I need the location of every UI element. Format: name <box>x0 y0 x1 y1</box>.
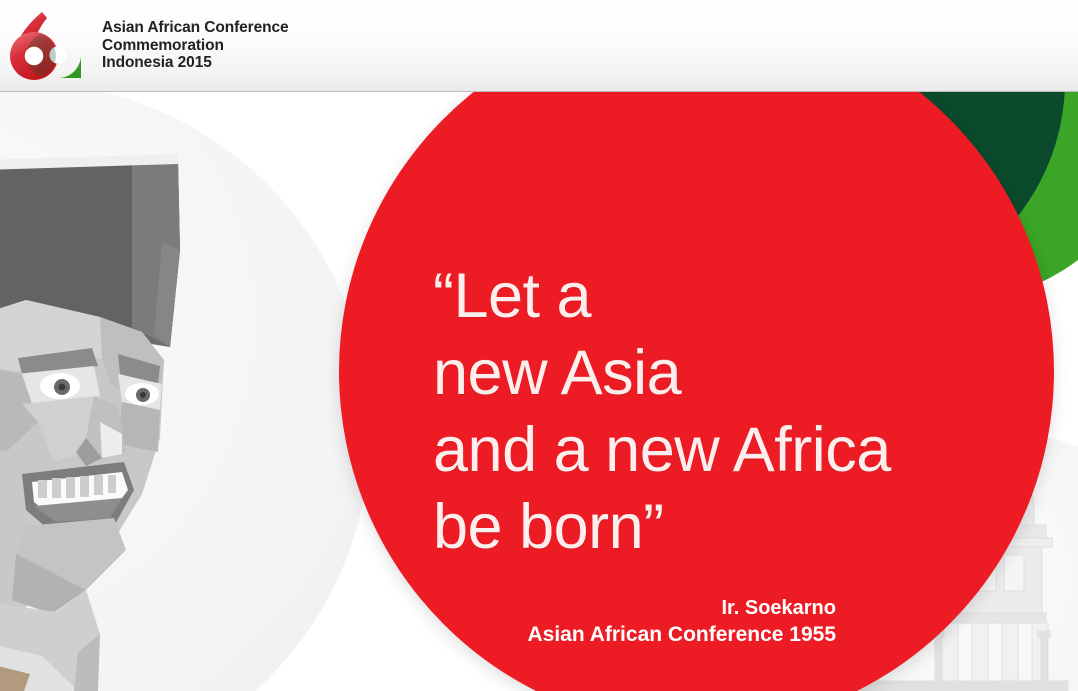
quote-attribution: Ir. Soekarno Asian African Conference 19… <box>433 595 836 649</box>
site-header: Asian African Conference Commemoration I… <box>0 0 1078 92</box>
attribution-name: Ir. Soekarno <box>433 595 836 621</box>
brand-line-1: Asian African Conference <box>102 19 289 37</box>
brand-title: Asian African Conference Commemoration I… <box>102 19 289 73</box>
hero-quote: “Let a new Asia and a new Africa be born… <box>433 258 903 566</box>
brand-line-3: Indonesia 2015 <box>102 54 289 72</box>
attribution-event: Asian African Conference 1955 <box>433 621 836 649</box>
brand-line-2: Commemoration <box>102 37 289 55</box>
aac-60-logo-icon[interactable] <box>8 9 86 83</box>
quote-text: “Let a new Asia and a new Africa be born… <box>433 258 903 566</box>
page-root: Asian African Conference Commemoration I… <box>0 0 1078 691</box>
soekarno-portrait <box>0 122 282 691</box>
hero-stage: “Let a new Asia and a new Africa be born… <box>0 92 1078 691</box>
